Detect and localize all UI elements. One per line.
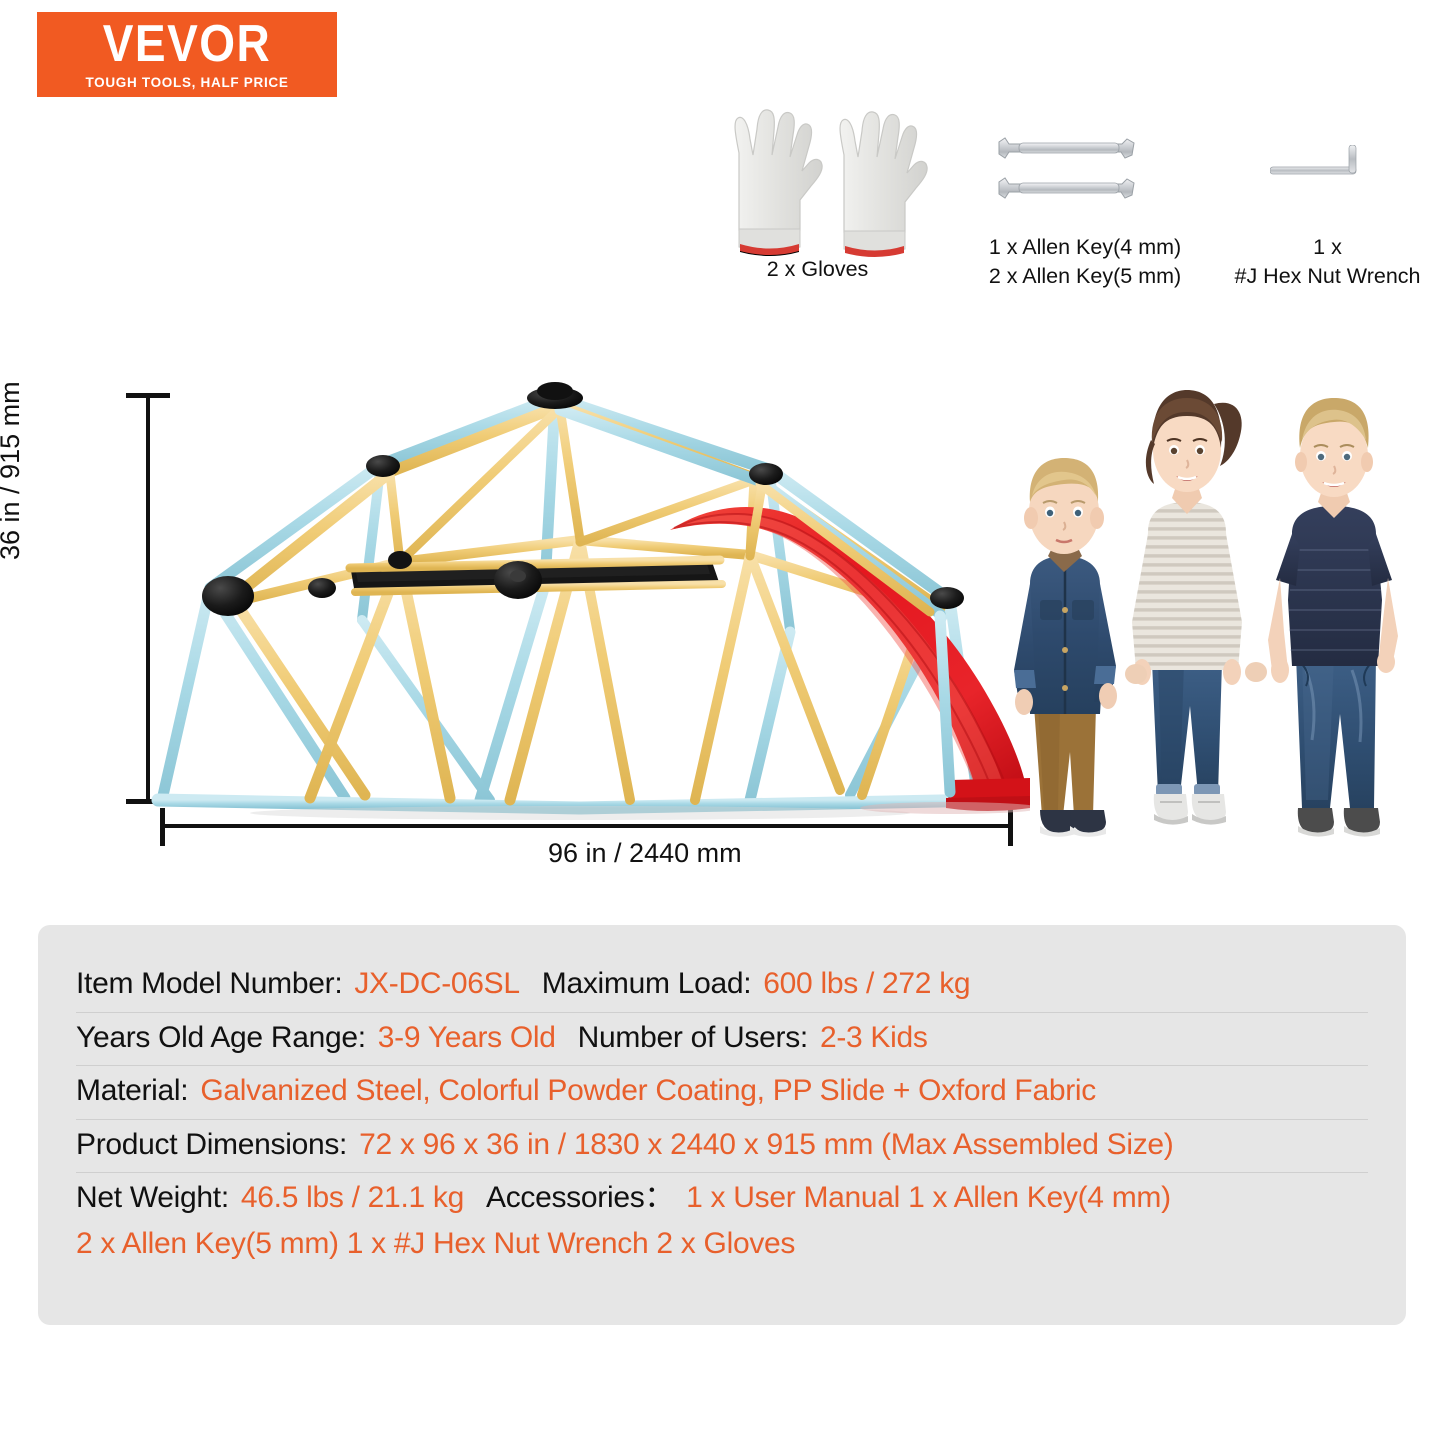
label-product-dimensions: Product Dimensions: <box>76 1128 347 1161</box>
label-age-range: Years Old Age Range: <box>76 1021 366 1054</box>
value-material: Galvanized Steel, Colorful Powder Coatin… <box>200 1074 1096 1107</box>
spec-row-weight-accessories: Net Weight:46.5 lbs / 21.1 kgAccessories… <box>76 1172 1368 1226</box>
value-product-dimensions: 72 x 96 x 36 in / 1830 x 2440 x 915 mm (… <box>359 1128 1173 1161</box>
value-item-model-number: JX-DC-06SL <box>354 967 519 1000</box>
value-accessories-continued: 2 x Allen Key(5 mm) 1 x #J Hex Nut Wrenc… <box>76 1227 795 1260</box>
spec-row-dimensions: Product Dimensions:72 x 96 x 36 in / 183… <box>76 1119 1368 1173</box>
vevor-logo: VEVOR TOUGH TOOLS, HALF PRICE <box>37 12 337 97</box>
allen-key-svg <box>1270 145 1390 215</box>
kid-boy <box>1268 398 1398 837</box>
kids-group <box>1000 370 1445 840</box>
label-accessories: Accessories： <box>486 1181 674 1214</box>
label-number-of-users: Number of Users: <box>578 1021 808 1054</box>
spec-table: Item Model Number:JX-DC-06SLMaximum Load… <box>38 925 1406 1325</box>
hex-nut-wrench-label-line1: 1 x <box>1220 233 1435 261</box>
label-net-weight: Net Weight: <box>76 1181 229 1214</box>
value-number-of-users: 2-3 Kids <box>820 1021 928 1054</box>
kid-toddler-boy <box>1014 458 1117 837</box>
label-maximum-load: Maximum Load: <box>542 967 752 1000</box>
product-infographic: VEVOR TOUGH TOOLS, HALF PRICE <box>0 0 1445 1445</box>
label-material: Material: <box>76 1074 188 1107</box>
wrench-icon <box>995 130 1145 225</box>
kid-girl <box>1132 390 1242 825</box>
allen-keys-label-line2: 2 x Allen Key(5 mm) <box>965 262 1205 290</box>
allen-key-icon <box>1265 145 1395 215</box>
spec-row-accessories-continued: 2 x Allen Key(5 mm) 1 x #J Hex Nut Wrenc… <box>76 1226 1368 1272</box>
brand-name: VEVOR <box>103 17 272 69</box>
accessories-strip: 2 x Gloves <box>690 105 1435 305</box>
dome-yellow-bars <box>232 406 940 800</box>
wrench-svg <box>995 130 1145 230</box>
hex-nut-wrench-label-line2: #J Hex Nut Wrench <box>1220 262 1435 290</box>
value-age-range: 3-9 Years Old <box>378 1021 556 1054</box>
allen-keys-label-line1: 1 x Allen Key(4 mm) <box>965 233 1205 261</box>
width-dimension-label: 96 in / 2440 mm <box>548 838 742 869</box>
gloves-label: 2 x Gloves <box>690 255 945 283</box>
spec-row-model-load: Item Model Number:JX-DC-06SLMaximum Load… <box>76 959 1368 1012</box>
spec-row-age-users: Years Old Age Range:3-9 Years OldNumber … <box>76 1012 1368 1066</box>
brand-tagline: TOUGH TOOLS, HALF PRICE <box>85 75 288 90</box>
height-dimension-label: 36 in / 915 mm <box>0 381 26 560</box>
width-dimension-line <box>162 824 1012 828</box>
gloves-icon <box>705 105 945 255</box>
label-item-model-number: Item Model Number: <box>76 967 342 1000</box>
joined-hands-left <box>1125 664 1147 684</box>
value-accessories: 1 x User Manual 1 x Allen Key(4 mm) <box>686 1181 1171 1214</box>
gloves-svg <box>705 105 945 260</box>
climbing-dome-illustration <box>150 370 1030 820</box>
value-maximum-load: 600 lbs / 272 kg <box>763 967 970 1000</box>
joined-hands-right <box>1245 662 1267 682</box>
value-net-weight: 46.5 lbs / 21.1 kg <box>241 1181 464 1214</box>
spec-row-material: Material:Galvanized Steel, Colorful Powd… <box>76 1065 1368 1119</box>
